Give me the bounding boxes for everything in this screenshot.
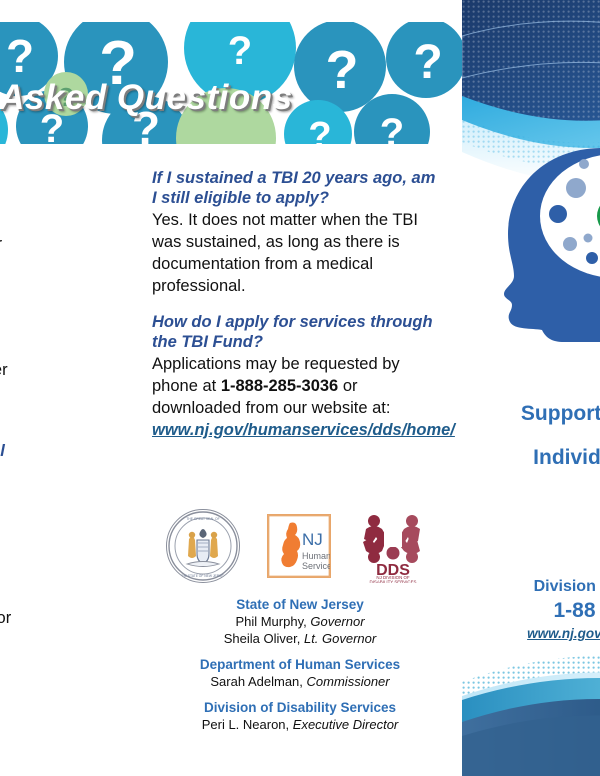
credit-group-dhs: Department of Human Services Sarah Adelm… xyxy=(150,656,450,690)
svg-text:?: ? xyxy=(308,115,331,144)
credit-name-exec-director: Peri L. Nearon, xyxy=(202,717,289,732)
brochure-inside-spread: ? ? ? ? ? ? ? ? ? ? ? ? xyxy=(0,0,462,776)
left-answer-3-line-1: ctly xyxy=(0,483,110,505)
left-answer-2-line-5: ams before xyxy=(0,403,110,425)
nj-human-services-icon: NJ Human Services xyxy=(268,515,330,577)
left-answer-3: ctly s and e individual xyxy=(0,483,110,549)
nj-state-seal-icon: THE GREAT SEAL OF THE STATE OF NEW JERSE… xyxy=(167,510,239,582)
svg-text:THE GREAT SEAL OF: THE GREAT SEAL OF xyxy=(186,517,219,521)
credit-name-commissioner: Sarah Adelman, xyxy=(210,674,303,689)
cover-bottom-swoosh-icon xyxy=(462,656,600,776)
left-answer-3-line-2: s and xyxy=(0,505,110,527)
tbi-fund-phone: 1-888-285-3036 xyxy=(221,377,338,395)
left-answer-4-line-1: quirement for xyxy=(0,607,110,629)
cover-title-line-1: Supports xyxy=(462,392,600,436)
credit-spacer-2 xyxy=(150,690,450,699)
left-answer-3-line-3: e individual xyxy=(0,527,110,549)
head-brain-graphic xyxy=(484,142,600,347)
cover-title-line-2: Individ xyxy=(462,436,600,480)
credit-heading-dhs: Department of Human Services xyxy=(150,656,450,673)
faq-item-1: If I sustained a TBI 20 years ago, am I … xyxy=(152,168,442,297)
svg-text:?: ? xyxy=(413,36,442,89)
dds-logo: DDS NJ DIVISION OF DISABILITY SERVICES xyxy=(358,509,428,583)
credit-title-commissioner: Commissioner xyxy=(307,674,390,689)
left-block-4: rement for quirement for xyxy=(0,565,110,629)
cover-bottom-graphic xyxy=(462,656,600,776)
left-answer-2-line-3: hrough other xyxy=(0,359,110,381)
left-question-2: ast resort xyxy=(0,273,110,293)
svg-text:?: ? xyxy=(6,30,34,82)
left-column: nce? used to d supports hrough your ast … xyxy=(0,168,110,645)
left-answer-1-line-3: hrough your xyxy=(0,233,110,255)
cover-footer-website: www.nj.gov/hu xyxy=(462,624,600,644)
credit-title-lt-governor: Lt. Governor xyxy=(304,631,376,646)
credit-group-state: State of New Jersey Phil Murphy, Governo… xyxy=(150,596,450,647)
svg-text:NJ: NJ xyxy=(302,530,323,549)
credit-heading-dds: Division of Disability Services xyxy=(150,699,450,716)
left-block-2: ast resort consider nd supports hrough o… xyxy=(0,273,110,425)
left-answer-2: consider nd supports hrough other must u… xyxy=(0,315,110,425)
left-question-3: de financial xyxy=(0,441,110,461)
svg-text:Human: Human xyxy=(302,551,330,561)
nj-state-seal-logo: THE GREAT SEAL OF THE STATE OF NEW JERSE… xyxy=(166,509,240,583)
credit-title-exec-director: Executive Director xyxy=(293,717,398,732)
svg-text:?: ? xyxy=(228,29,252,73)
credit-name-lt-governor: Sheila Oliver, xyxy=(224,631,301,646)
faq-banner-title: ntly Asked Questions xyxy=(0,78,396,118)
left-question-4: rement for xyxy=(0,565,110,585)
nj-human-services-logo: NJ Human Services xyxy=(267,514,331,578)
faq-item-2: How do I apply for services through the … xyxy=(152,312,442,441)
faq-question-1: If I sustained a TBI 20 years ago, am I … xyxy=(152,168,442,208)
left-answer-1: used to d supports hrough your xyxy=(0,189,110,255)
left-answer-1-line-1: used to xyxy=(0,189,110,211)
left-answer-1-line-2: d supports xyxy=(0,211,110,233)
agency-credits: State of New Jersey Phil Murphy, Governo… xyxy=(150,596,450,733)
credit-line-exec-director: Peri L. Nearon, Executive Director xyxy=(150,716,450,733)
left-block-3: de financial ctly s and e individual xyxy=(0,441,110,549)
credit-name-governor: Phil Murphy, xyxy=(235,614,306,629)
credit-spacer-1 xyxy=(150,647,450,656)
left-answer-2-line-4: must use xyxy=(0,381,110,403)
credit-line-governor: Phil Murphy, Governor xyxy=(150,613,450,630)
tbi-fund-website-link[interactable]: www.nj.gov/humanservices/dds/home/ xyxy=(152,421,455,439)
agency-logo-row: THE GREAT SEAL OF THE STATE OF NEW JERSE… xyxy=(166,508,428,584)
left-question-1: nce? xyxy=(0,168,110,188)
svg-text:THE STATE OF NEW JERSEY: THE STATE OF NEW JERSEY xyxy=(180,574,226,578)
dds-icon: DDS NJ DIVISION OF DISABILITY SERVICES xyxy=(358,509,428,583)
faq-answer-1: Yes. It does not matter when the TBI was… xyxy=(152,209,442,297)
cover-footer: Division of 1-88 www.nj.gov/hu xyxy=(462,576,600,644)
middle-column: If I sustained a TBI 20 years ago, am I … xyxy=(152,168,442,456)
left-answer-4: quirement for xyxy=(0,607,110,629)
credit-group-dds: Division of Disability Services Peri L. … xyxy=(150,699,450,733)
credit-title-governor: Governor xyxy=(310,614,364,629)
faq-banner: ? ? ? ? ? ? ? ? ? ? ? ? xyxy=(0,22,462,144)
credit-line-lt-governor: Sheila Oliver, Lt. Governor xyxy=(150,630,450,647)
left-answer-2-line-2: nd supports xyxy=(0,337,110,359)
brochure-front-cover: Supports Individ Division of 1-88 www.nj… xyxy=(462,0,600,776)
left-block-1: nce? used to d supports hrough your xyxy=(0,168,110,255)
svg-text:Services: Services xyxy=(302,561,330,571)
cover-title: Supports Individ xyxy=(462,392,600,480)
head-brain-icon xyxy=(484,142,600,347)
credit-line-commissioner: Sarah Adelman, Commissioner xyxy=(150,673,450,690)
left-answer-2-line-1: consider xyxy=(0,315,110,337)
cover-footer-phone: 1-88 xyxy=(462,598,600,624)
brochure-page: ? ? ? ? ? ? ? ? ? ? ? ? xyxy=(0,0,600,776)
faq-answer-2: Applications may be requested by phone a… xyxy=(152,353,442,441)
credit-heading-state: State of New Jersey xyxy=(150,596,450,613)
faq-question-2: How do I apply for services through the … xyxy=(152,312,442,352)
cover-footer-division: Division of xyxy=(462,576,600,598)
svg-text:DISABILITY SERVICES: DISABILITY SERVICES xyxy=(370,580,417,584)
